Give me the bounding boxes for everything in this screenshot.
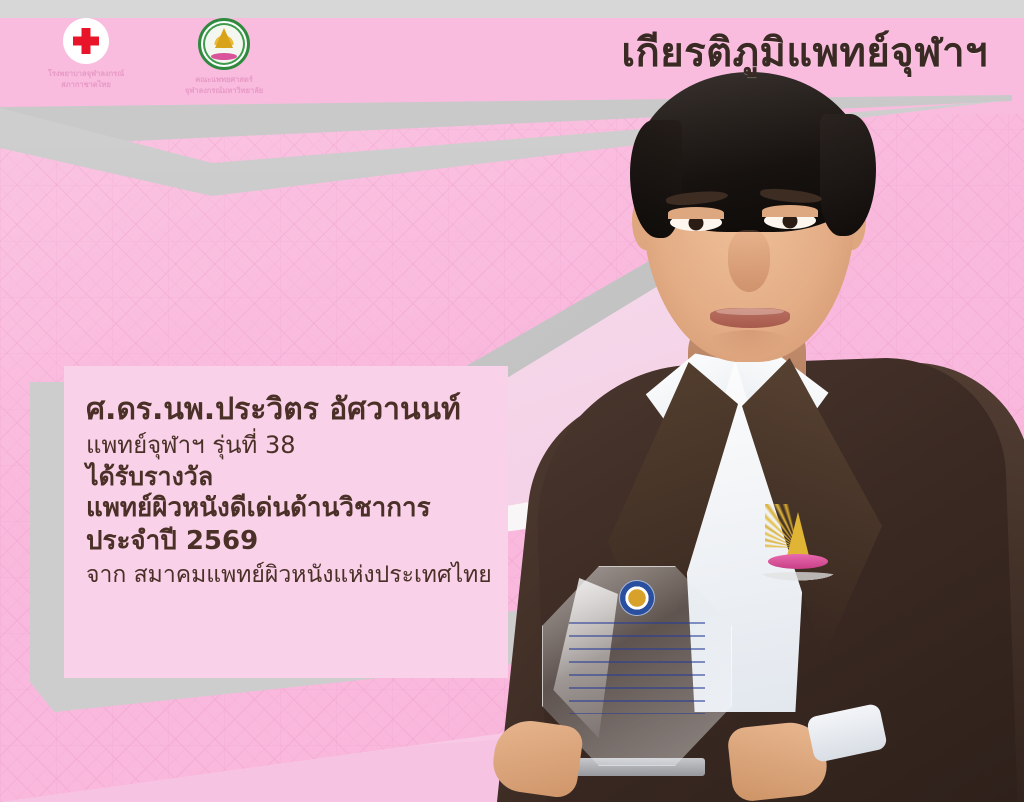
chulalongkorn-phra-kiao-icon <box>198 18 250 70</box>
award-year: ประจำปี 2569 <box>86 526 484 558</box>
eyelid-right <box>762 205 818 217</box>
received-label: ได้รับรางวัล <box>86 462 484 493</box>
page-title: เกียรติภูมิแพทย์จุฬาฯ <box>621 20 988 84</box>
logo-caption-redcross: โรงพยาบาลจุฬาลงกรณ์ สภากาชาดไทย <box>30 69 142 91</box>
eyelid-left <box>668 207 724 219</box>
emblem-text-arc <box>755 572 841 582</box>
nose <box>728 230 770 292</box>
portrait-photo <box>480 62 1024 802</box>
award-info-card: ศ.ดร.นพ.ประวิตร อัศวานนท์ แพทย์จุฬาฯ รุ่… <box>64 366 508 678</box>
award-name: แพทย์ผิวหนังดีเด่นด้านวิชาการ <box>86 493 484 525</box>
plaque-base <box>569 758 706 776</box>
mouth-highlight <box>716 308 784 315</box>
honoree-class: แพทย์จุฬาฯ รุ่นที่ 38 <box>86 431 484 460</box>
logo-redcross-hospital: โรงพยาบาลจุฬาลงกรณ์ สภากาชาดไทย <box>30 18 142 91</box>
logo-chula-medicine: คณะแพทยศาสตร์ จุฬาลงกรณ์มหาวิทยาลัย <box>168 18 280 97</box>
emblem-crown <box>787 512 809 556</box>
hair-side-right <box>820 114 876 236</box>
honoree-name: ศ.ดร.นพ.ประวิตร อัศวานนท์ <box>86 392 484 429</box>
chin-shadow <box>706 330 792 358</box>
poster-canvas: โรงพยาบาลจุฬาลงกรณ์ สภากาชาดไทย คณะแพทยศ… <box>0 0 1024 802</box>
logo-caption-chula: คณะแพทยศาสตร์ จุฬาลงกรณ์มหาวิทยาลัย <box>168 75 280 97</box>
top-grey-strip <box>0 0 1024 18</box>
award-granted-by: จาก สมาคมแพทย์ผิวหนังแห่งประเทศไทย <box>86 561 484 589</box>
emblem-ribbon <box>211 53 237 60</box>
emblem-crown <box>215 28 233 48</box>
chulalongkorn-phra-kiao-icon <box>752 500 844 592</box>
header-logo-group: โรงพยาบาลจุฬาลงกรณ์ สภากาชาดไทย คณะแพทยศ… <box>30 18 280 97</box>
emblem-ribbon <box>768 554 828 569</box>
plaque-engraved-text <box>569 622 706 714</box>
plaque-seal-icon <box>619 580 655 616</box>
red-cross-icon <box>63 18 109 64</box>
